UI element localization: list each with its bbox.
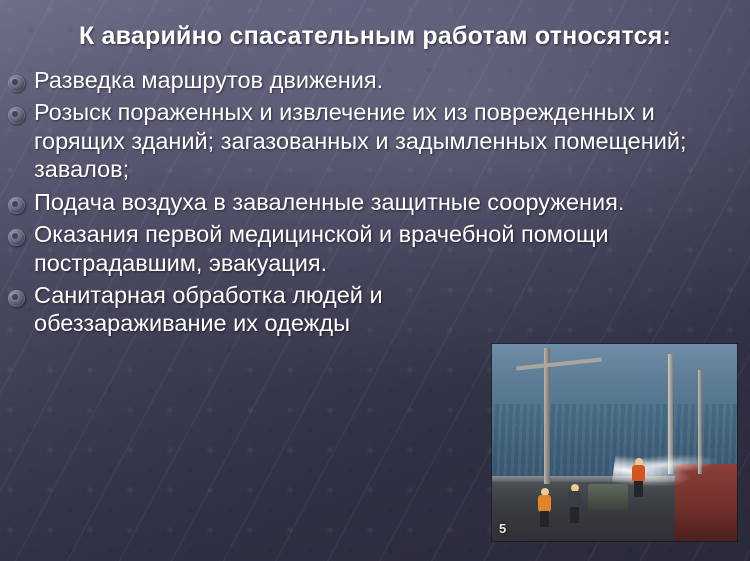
presentation-slide: К аварийно спасательным работам относятс…	[0, 0, 750, 561]
slide-title: К аварийно спасательным работам относятс…	[0, 22, 750, 51]
bullet-text: Подача воздуха в заваленные защитные соо…	[34, 188, 624, 216]
photo-caption-number: 5	[499, 521, 506, 536]
list-item: Разведка маршрутов движения.	[8, 66, 708, 94]
list-item: Санитарная обработка людей и обеззаражив…	[8, 281, 708, 338]
bullet-list: Разведка маршрутов движения. Розыск пора…	[8, 66, 708, 342]
bullet-sphere-icon	[8, 290, 25, 307]
bullet-text: Санитарная обработка людей и обеззаражив…	[34, 281, 504, 338]
photo-crew-figure	[568, 490, 581, 524]
bullet-sphere-icon	[8, 229, 25, 246]
list-item: Оказания первой медицинской и врачебной …	[8, 220, 708, 277]
bullet-text: Разведка маршрутов движения.	[34, 66, 383, 94]
bullet-sphere-icon	[8, 75, 25, 92]
bullet-sphere-icon	[8, 197, 25, 214]
photo-crew-figure	[538, 494, 551, 528]
list-item: Подача воздуха в заваленные защитные соо…	[8, 188, 708, 216]
bullet-text: Розыск пораженных и извлечение их из пов…	[34, 98, 706, 183]
list-item: Розыск пораженных и извлечение их из пов…	[8, 98, 708, 183]
rescue-ship-photo: 5	[492, 344, 737, 541]
bullet-sphere-icon	[8, 107, 25, 124]
photo-deck-equipment	[588, 484, 628, 510]
bullet-text: Оказания первой медицинской и врачебной …	[34, 220, 706, 277]
photo-crew-figure	[632, 464, 645, 498]
photo-mast	[544, 348, 550, 484]
